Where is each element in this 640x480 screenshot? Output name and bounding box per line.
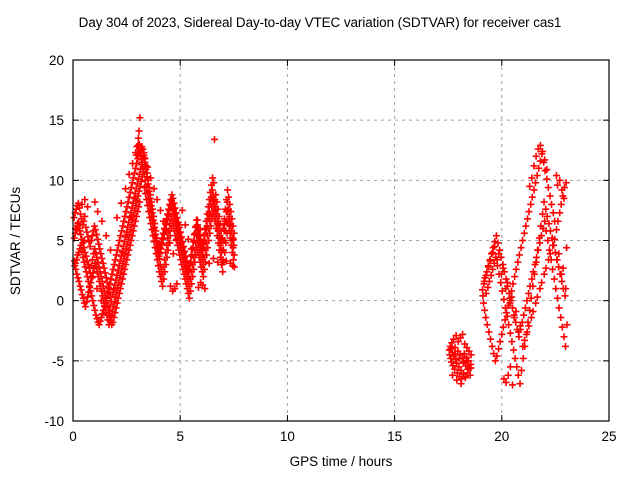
data-point-marker <box>194 217 201 224</box>
data-point-marker <box>493 232 500 239</box>
data-point-marker <box>492 357 499 364</box>
data-point-marker <box>74 274 81 281</box>
data-point-marker <box>97 250 104 257</box>
data-point-marker <box>89 297 96 304</box>
data-point-marker <box>157 207 164 214</box>
data-point-marker <box>526 208 533 215</box>
y-tick-label: -5 <box>52 354 64 369</box>
data-point-marker <box>128 184 135 191</box>
data-point-marker <box>552 249 559 256</box>
data-point-marker <box>545 184 552 191</box>
data-point-marker <box>76 278 83 285</box>
data-point-marker <box>549 266 556 273</box>
data-point-marker <box>521 337 528 344</box>
data-point-marker <box>94 208 101 215</box>
x-tick-label: 10 <box>280 429 295 444</box>
y-tick-label: 20 <box>49 53 64 68</box>
data-point-marker <box>112 256 119 263</box>
data-point-marker <box>103 274 110 281</box>
data-point-marker <box>120 218 127 225</box>
data-point-marker <box>127 189 134 196</box>
data-point-marker <box>96 245 103 252</box>
data-point-marker <box>485 328 492 335</box>
data-point-marker <box>168 191 175 198</box>
data-point-marker <box>170 250 177 257</box>
data-point-marker <box>71 214 78 221</box>
data-point-marker <box>200 273 207 280</box>
data-point-marker <box>554 295 561 302</box>
data-point-marker <box>121 213 128 220</box>
data-point-marker <box>562 343 569 350</box>
data-point-marker <box>553 226 560 233</box>
data-point-marker <box>509 381 516 388</box>
data-point-marker <box>497 338 504 345</box>
data-point-marker <box>520 355 527 362</box>
y-tick-label: -10 <box>44 414 64 429</box>
data-point-marker <box>91 198 98 205</box>
chart-canvas: Day 304 of 2023, Sidereal Day-to-day VTE… <box>0 0 640 480</box>
data-point-marker <box>90 302 97 309</box>
data-point-marker <box>511 273 518 280</box>
data-point-marker <box>224 186 231 193</box>
data-point-marker <box>98 218 105 225</box>
data-point-marker <box>100 260 107 267</box>
data-point-marker <box>530 186 537 193</box>
data-point-marker <box>547 250 554 257</box>
data-point-marker <box>556 209 563 216</box>
data-point-marker <box>487 336 494 343</box>
data-point-marker <box>131 170 138 177</box>
data-point-marker <box>519 237 526 244</box>
data-point-marker <box>182 221 189 228</box>
data-point-marker <box>535 247 542 254</box>
data-point-marker <box>504 279 511 286</box>
data-point-marker <box>101 265 108 272</box>
data-point-marker <box>556 304 563 311</box>
data-points <box>71 114 571 388</box>
data-point-marker <box>512 355 519 362</box>
data-point-marker <box>86 284 93 291</box>
data-point-marker <box>122 208 129 215</box>
data-point-marker <box>552 285 559 292</box>
data-point-marker <box>458 380 465 387</box>
data-point-marker <box>555 250 562 257</box>
data-point-marker <box>95 241 102 248</box>
data-point-marker <box>554 256 561 263</box>
x-axis-title: GPS time / hours <box>290 454 393 469</box>
data-point-marker <box>532 300 539 307</box>
data-point-marker <box>91 307 98 314</box>
data-point-marker <box>541 271 548 278</box>
data-point-marker <box>119 223 126 230</box>
data-point-marker <box>513 363 520 370</box>
x-tick-label: 25 <box>601 429 616 444</box>
data-point-marker <box>524 319 531 326</box>
data-point-marker <box>88 274 95 281</box>
data-point-marker <box>527 201 534 208</box>
data-point-marker <box>484 321 491 328</box>
data-point-marker <box>482 314 489 321</box>
data-point-marker <box>550 209 557 216</box>
data-point-marker <box>500 296 507 303</box>
data-point-marker <box>83 229 90 236</box>
data-point-marker <box>135 135 142 142</box>
data-point-marker <box>528 314 535 321</box>
x-tick-label: 20 <box>494 429 509 444</box>
data-point-marker <box>533 254 540 261</box>
data-point-marker <box>510 347 517 354</box>
data-point-marker <box>491 243 498 250</box>
y-tick-label: 15 <box>49 113 64 128</box>
data-point-marker <box>521 230 528 237</box>
x-tick-label: 5 <box>176 429 184 444</box>
data-point-marker <box>113 251 120 258</box>
data-point-marker <box>558 271 565 278</box>
data-point-marker <box>102 269 109 276</box>
data-point-marker <box>115 242 122 249</box>
y-tick-label: 10 <box>49 173 64 188</box>
data-point-marker <box>125 198 132 205</box>
data-point-marker <box>481 307 488 314</box>
data-point-marker <box>538 279 545 286</box>
data-point-marker <box>563 244 570 251</box>
data-point-marker <box>113 214 120 221</box>
data-point-marker <box>560 333 567 340</box>
data-point-marker <box>534 294 541 301</box>
data-point-marker <box>508 338 515 345</box>
data-point-marker <box>547 227 554 234</box>
data-point-marker <box>558 278 565 285</box>
data-point-marker <box>126 171 133 178</box>
data-point-marker <box>551 276 558 283</box>
data-point-marker <box>136 127 143 134</box>
data-point-marker <box>118 227 125 234</box>
data-point-marker <box>555 263 562 270</box>
data-point-marker <box>77 283 84 290</box>
data-point-marker <box>526 183 533 190</box>
x-tick-label: 0 <box>69 429 77 444</box>
data-point-marker <box>530 308 537 315</box>
data-point-marker <box>557 314 564 321</box>
data-point-marker <box>529 194 536 201</box>
data-point-marker <box>536 285 543 292</box>
data-point-marker <box>111 261 118 268</box>
data-point-marker <box>549 242 556 249</box>
x-tick-label: 15 <box>387 429 402 444</box>
data-point-marker <box>78 286 85 293</box>
data-point-marker <box>497 279 504 286</box>
data-point-marker <box>507 363 514 370</box>
y-axis-title: SDTVAR / TECUs <box>8 187 23 296</box>
data-point-marker <box>107 247 114 254</box>
data-point-marker <box>512 319 519 326</box>
data-point-marker <box>560 265 567 272</box>
data-point-marker <box>219 268 226 275</box>
data-point-marker <box>514 259 521 266</box>
y-tick-label: 5 <box>56 234 64 249</box>
data-point-marker <box>525 322 532 329</box>
data-point-marker <box>513 266 520 273</box>
data-point-marker <box>505 372 512 379</box>
data-point-marker <box>91 223 98 230</box>
data-point-marker <box>210 255 217 262</box>
data-point-marker <box>489 343 496 350</box>
data-point-marker <box>103 232 110 239</box>
data-point-marker <box>558 201 565 208</box>
data-point-marker <box>110 266 117 273</box>
data-point-marker <box>206 260 213 267</box>
data-point-marker <box>547 192 554 199</box>
data-point-marker <box>117 232 124 239</box>
data-point-marker <box>73 271 80 278</box>
data-point-marker <box>516 251 523 258</box>
data-point-marker <box>562 292 569 299</box>
data-point-marker <box>496 247 503 254</box>
data-point-marker <box>498 331 505 338</box>
data-point-marker <box>503 276 510 283</box>
data-point-marker <box>89 232 96 239</box>
data-point-marker <box>94 236 101 243</box>
data-point-marker <box>522 223 529 230</box>
data-point-marker <box>546 247 553 254</box>
y-tick-label: 0 <box>56 294 64 309</box>
data-point-marker <box>109 271 116 278</box>
data-point-marker <box>98 255 105 262</box>
scatter-plot: -10-5051015200510152025 GPS time / hours… <box>0 0 640 480</box>
data-point-marker <box>520 312 527 319</box>
data-point-marker <box>116 237 123 244</box>
data-point-marker <box>524 215 531 222</box>
data-point-marker <box>542 265 549 272</box>
data-point-marker <box>507 330 514 337</box>
data-point-marker <box>77 231 84 238</box>
data-point-marker <box>124 203 131 210</box>
data-point-marker <box>543 176 550 183</box>
data-point-marker <box>82 303 89 310</box>
data-point-marker <box>122 185 129 192</box>
data-point-marker <box>517 380 524 387</box>
data-point-marker <box>541 198 548 205</box>
data-point-marker <box>118 200 125 207</box>
data-point-marker <box>159 283 166 290</box>
data-point-marker <box>211 136 218 143</box>
data-point-marker <box>495 345 502 352</box>
data-point-marker <box>548 201 555 208</box>
data-point-marker <box>488 250 495 257</box>
data-point-marker <box>107 276 114 283</box>
data-point-marker <box>518 244 525 251</box>
data-point-marker <box>126 194 133 201</box>
